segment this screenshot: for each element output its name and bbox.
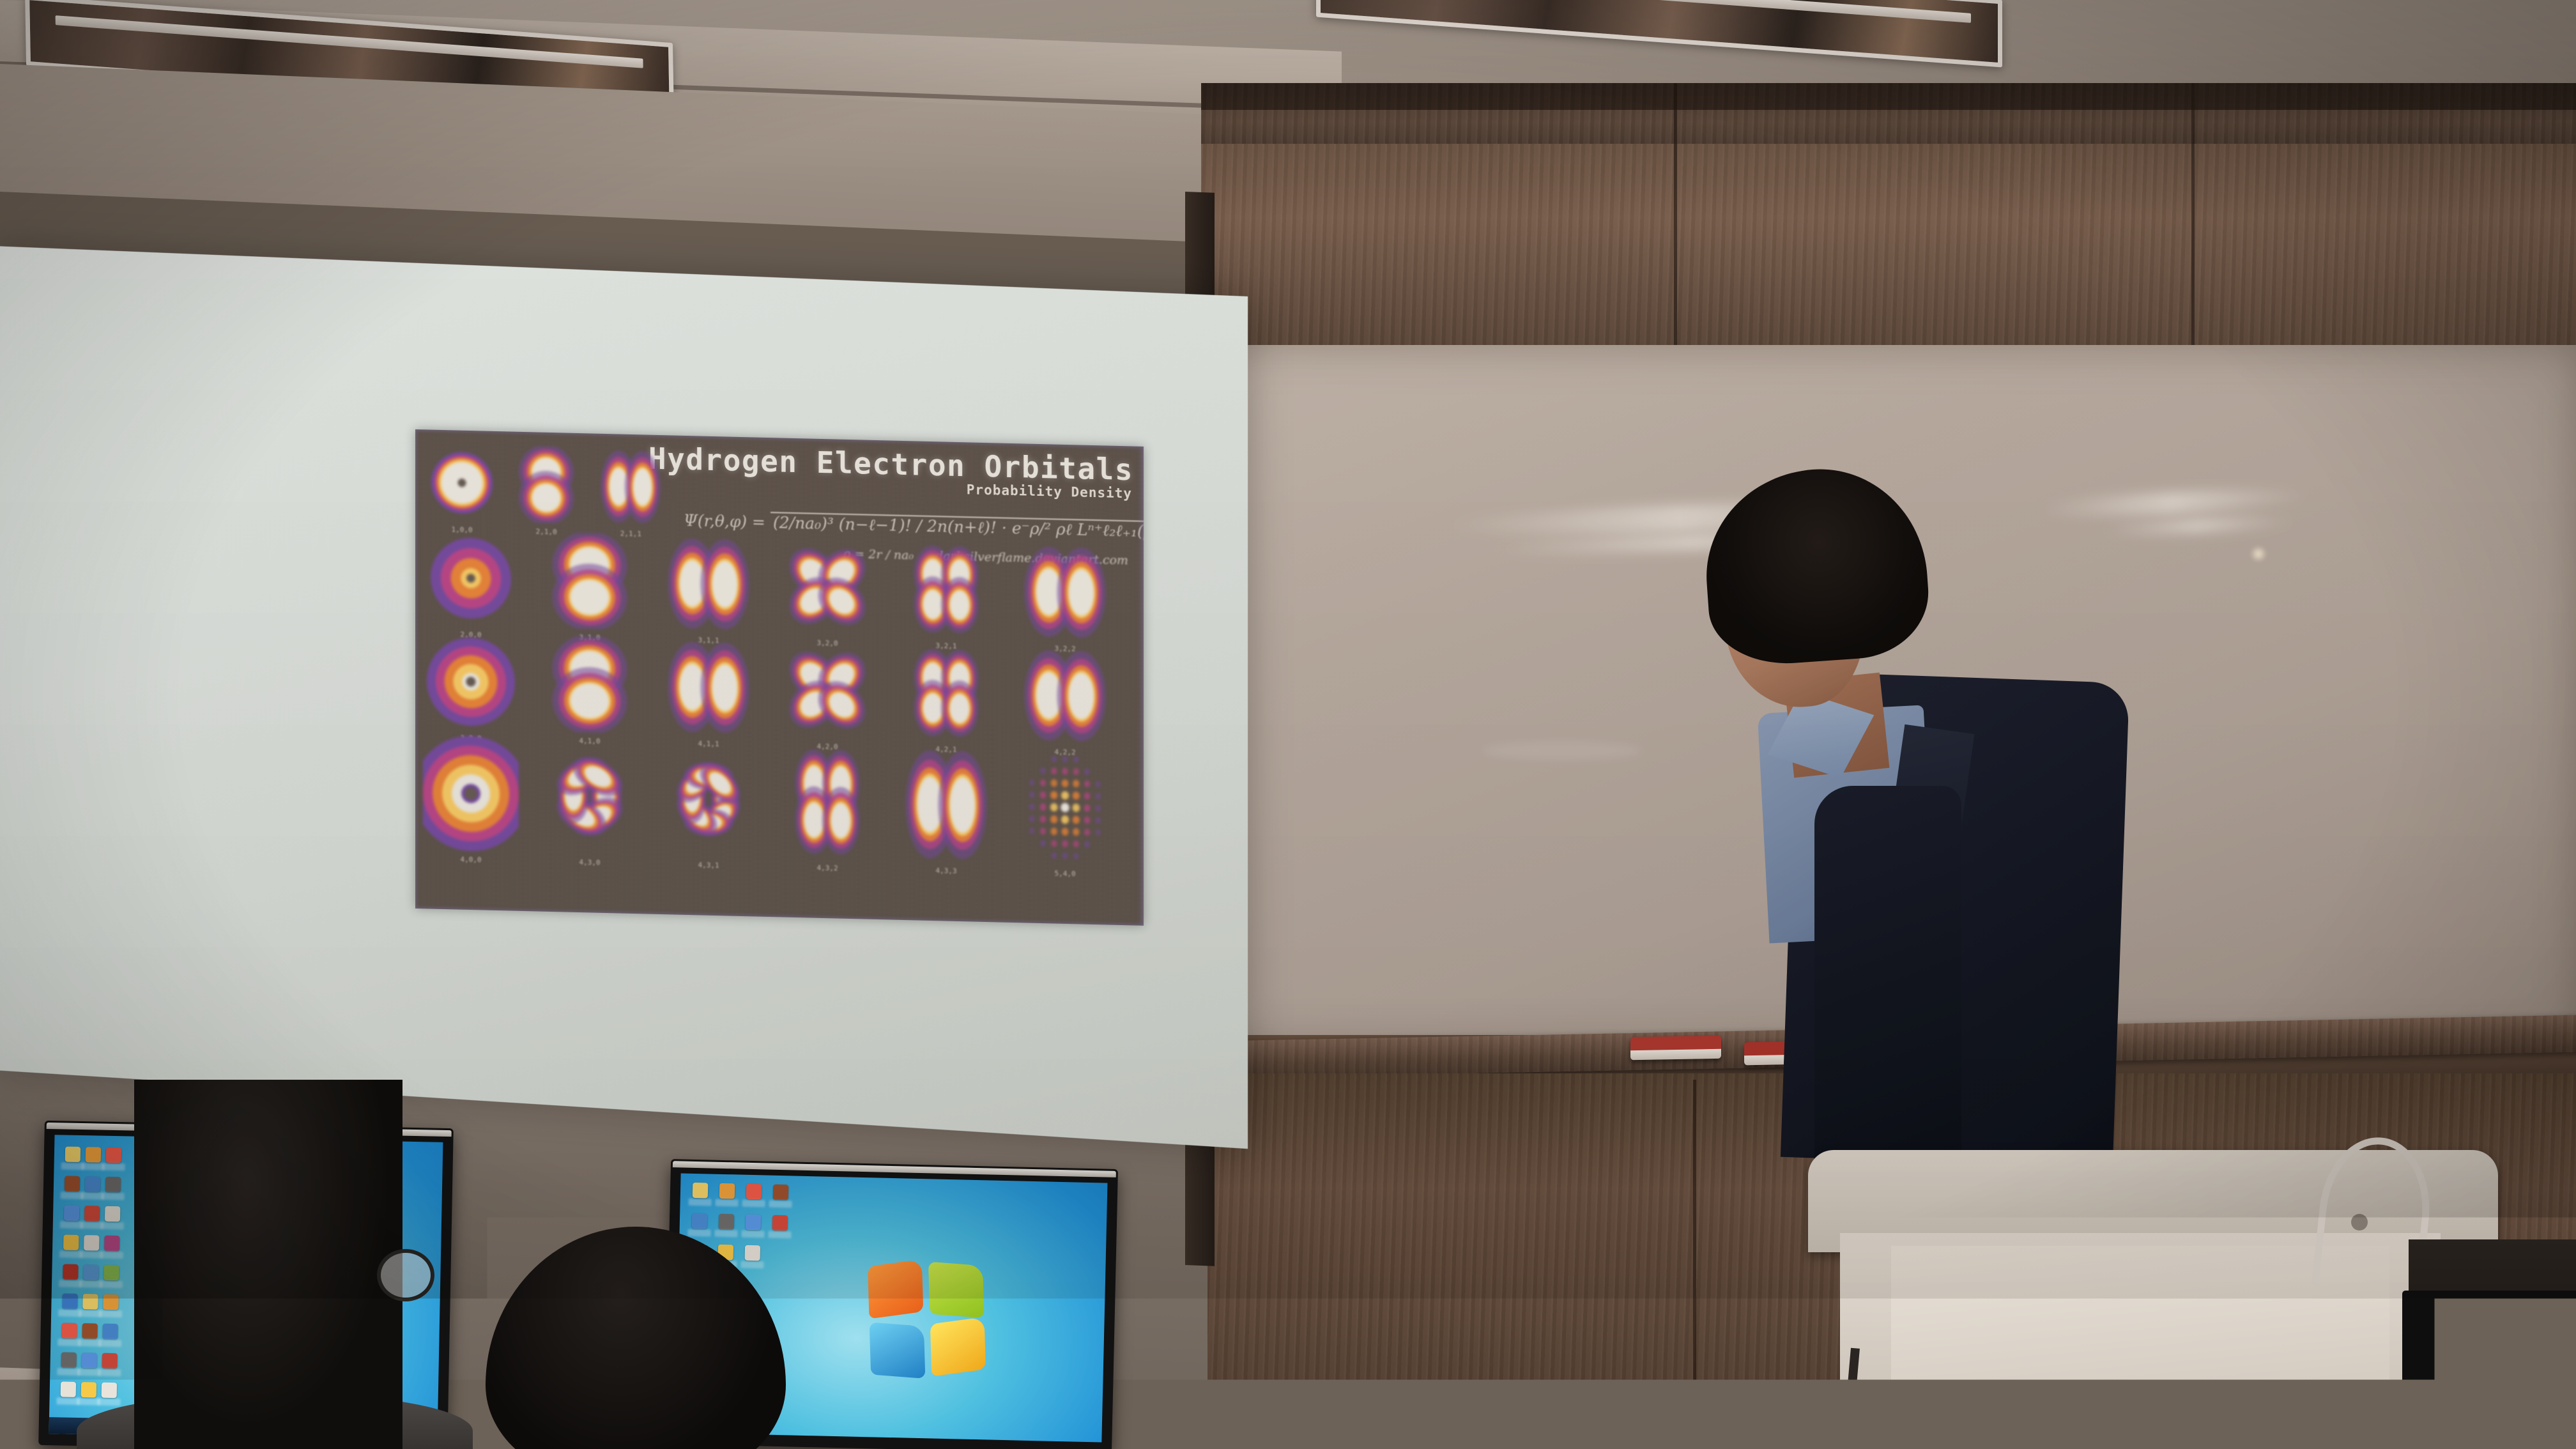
desktop-icon[interactable] <box>79 1382 98 1407</box>
desktop-icon[interactable] <box>59 1322 79 1347</box>
whiteboard-light-reflection <box>2249 546 2268 562</box>
presenter-arm <box>1814 786 1961 1195</box>
desktop-icon[interactable] <box>63 1176 82 1200</box>
desktop-icon[interactable] <box>744 1184 763 1209</box>
wood-panel-seam <box>2191 83 2195 358</box>
desktop-icon[interactable] <box>81 1264 101 1289</box>
desktop-icon[interactable] <box>103 1177 123 1202</box>
desktop-icon[interactable] <box>58 1381 78 1406</box>
desktop-icon[interactable] <box>100 1324 120 1349</box>
desktop-icon[interactable] <box>62 1205 82 1230</box>
glasses <box>377 1249 434 1301</box>
desktop-icon[interactable] <box>100 1353 119 1378</box>
windows-logo-wallpaper <box>868 1261 986 1377</box>
desktop-icon[interactable] <box>102 1265 121 1290</box>
desktop-icon[interactable] <box>716 1214 736 1239</box>
desktop-icon[interactable] <box>60 1293 80 1318</box>
desktop-icon[interactable] <box>743 1215 763 1239</box>
desktop-icon[interactable] <box>103 1147 123 1172</box>
desktop-icon[interactable] <box>79 1353 99 1377</box>
desktop-icon[interactable] <box>82 1206 102 1230</box>
desktop-icon[interactable] <box>103 1206 123 1231</box>
desktop-icon[interactable] <box>99 1383 119 1407</box>
desktop-icon[interactable] <box>717 1183 737 1208</box>
desktop-icon[interactable] <box>63 1146 82 1171</box>
podium-cable-grommet <box>2351 1214 2368 1230</box>
desktop-icon[interactable] <box>101 1294 121 1319</box>
desktop-icon[interactable] <box>80 1294 100 1319</box>
wood-panel-seam <box>1693 1080 1696 1449</box>
wood-panel-upper <box>1201 144 2576 355</box>
desktop-icon[interactable] <box>61 1264 80 1289</box>
desktop-icon[interactable] <box>80 1323 100 1348</box>
desktop-icon[interactable] <box>742 1245 762 1270</box>
desktop-icon[interactable] <box>690 1183 710 1207</box>
desktop-icon[interactable] <box>102 1236 122 1261</box>
projected-slide: Hydrogen Electron Orbitals Probability D… <box>415 429 1144 926</box>
student-head <box>134 1080 402 1449</box>
desktop-icon[interactable] <box>83 1147 103 1172</box>
whiteboard-smudge <box>1482 741 1642 760</box>
desktop-icon[interactable] <box>770 1215 790 1240</box>
desktop-icon[interactable] <box>59 1352 79 1377</box>
desktop-icon[interactable] <box>689 1213 709 1238</box>
desktop-icon[interactable] <box>83 1176 103 1201</box>
wood-panel-shadow <box>1201 83 2576 110</box>
wood-panel-seam <box>1674 83 1677 358</box>
desktop-icon[interactable] <box>770 1184 790 1209</box>
desktop-icon[interactable] <box>61 1234 81 1259</box>
desktop-icon[interactable] <box>82 1235 102 1260</box>
whiteboard-eraser[interactable] <box>1630 1036 1721 1060</box>
classroom-scene: Hydrogen Electron Orbitals Probability D… <box>0 0 2576 1449</box>
podium-monitor[interactable] <box>2402 1291 2576 1449</box>
